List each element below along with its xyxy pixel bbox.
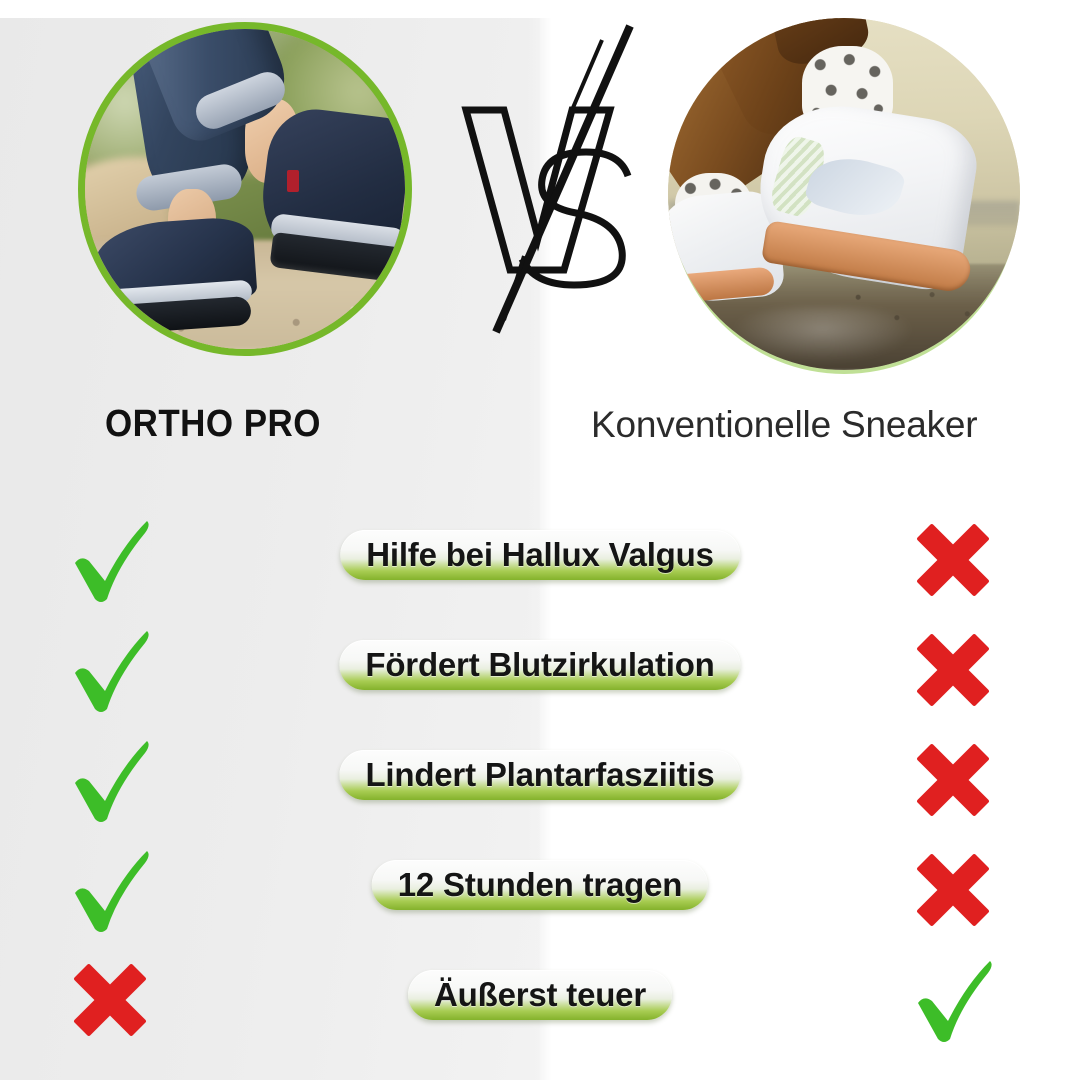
feature-pill: 12 Stunden tragen xyxy=(372,860,708,910)
feature-row: Äußerst teuer xyxy=(0,945,1080,1055)
check-icon xyxy=(55,615,165,725)
feature-pill: Fördert Blutzirkulation xyxy=(339,640,740,690)
comparison-infographic: ORTHO PRO Konventionelle Sneaker Hilfe b… xyxy=(0,0,1080,1080)
feature-label: Hilfe bei Hallux Valgus xyxy=(366,536,714,574)
check-icon xyxy=(55,835,165,945)
feature-list: Hilfe bei Hallux ValgusFördert Blutzirku… xyxy=(0,505,1080,1055)
top-white-strip xyxy=(0,0,1080,18)
product-photo-conventional-sneaker xyxy=(668,18,1020,370)
cross-icon xyxy=(898,615,1008,725)
check-icon xyxy=(55,505,165,615)
cross-icon xyxy=(898,505,1008,615)
cross-icon xyxy=(55,945,165,1055)
cross-icon xyxy=(898,835,1008,945)
feature-label: Lindert Plantarfasziitis xyxy=(365,756,714,794)
feature-row: Hilfe bei Hallux Valgus xyxy=(0,505,1080,615)
feature-pill: Hilfe bei Hallux Valgus xyxy=(340,530,740,580)
feature-pill: Äußerst teuer xyxy=(408,970,672,1020)
feature-row: 12 Stunden tragen xyxy=(0,835,1080,945)
feature-row: Lindert Plantarfasziitis xyxy=(0,725,1080,835)
page-title-left: ORTHO PRO xyxy=(105,403,321,446)
feature-label: Äußerst teuer xyxy=(434,976,646,1014)
check-icon xyxy=(55,725,165,835)
feature-label: 12 Stunden tragen xyxy=(398,866,682,904)
feature-pill: Lindert Plantarfasziitis xyxy=(339,750,740,800)
feature-row: Fördert Blutzirkulation xyxy=(0,615,1080,725)
feature-label: Fördert Blutzirkulation xyxy=(365,646,714,684)
cross-icon xyxy=(898,725,1008,835)
product-photo-ortho-pro xyxy=(78,22,412,356)
page-title-right: Konventionelle Sneaker xyxy=(591,404,977,446)
vs-versus-icon xyxy=(452,24,652,334)
check-icon xyxy=(898,945,1008,1055)
